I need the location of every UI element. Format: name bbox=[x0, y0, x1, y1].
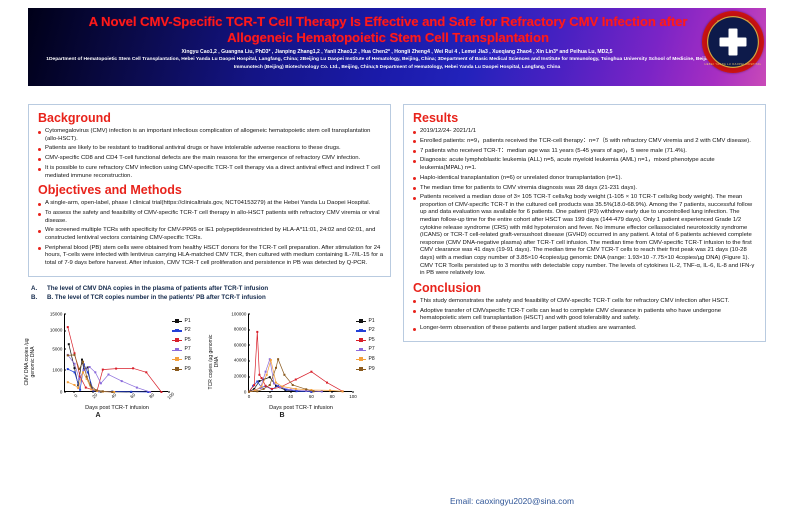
series-marker-P8 bbox=[77, 387, 79, 389]
series-marker-P7 bbox=[290, 388, 292, 390]
legend-label: P5 bbox=[185, 336, 191, 346]
legend-item-P2: P2 bbox=[172, 326, 191, 336]
series-marker-P9 bbox=[275, 366, 277, 368]
chart-legend: P1P2P5P7P8P9 bbox=[356, 317, 375, 375]
series-marker-P5 bbox=[115, 367, 117, 369]
series-marker-P8 bbox=[113, 391, 115, 393]
series-marker-P8 bbox=[74, 384, 76, 386]
y-axis-label: TCR copies /µg genomic DNA bbox=[208, 332, 220, 392]
series-marker-P7 bbox=[78, 378, 80, 380]
y-axis-tick: 40000 bbox=[234, 358, 249, 363]
legend-swatch-icon bbox=[356, 350, 366, 351]
legend-item-P2: P2 bbox=[356, 326, 375, 336]
series-marker-P2 bbox=[79, 388, 81, 390]
chart-panel-label: A bbox=[28, 412, 168, 419]
legend-label: P1 bbox=[369, 317, 375, 327]
legend-label: P2 bbox=[185, 326, 191, 336]
x-axis-tick: 60 bbox=[129, 392, 136, 399]
x-axis-tick: 20 bbox=[92, 392, 99, 399]
results-bullet-list: 2019/12/24- 2021/1/1 Enrolled patients: … bbox=[411, 128, 758, 278]
series-marker-P5 bbox=[271, 388, 273, 390]
section-title-conclusion: Conclusion bbox=[413, 281, 758, 296]
series-marker-P2 bbox=[67, 368, 69, 370]
legend-label: P8 bbox=[185, 355, 191, 365]
poster-header-banner: A Novel CMV-Specific TCR-T Cell Therapy … bbox=[28, 8, 766, 86]
section-title-background: Background bbox=[38, 111, 383, 126]
list-item: It is possible to cure refractory CMV in… bbox=[36, 165, 383, 180]
figure-charts: CMV DNA copies /µg genomic DNA0100050001… bbox=[28, 306, 391, 418]
poster-root: A Novel CMV-Specific TCR-T Cell Therapy … bbox=[0, 8, 794, 518]
y-axis-tick: 5000 bbox=[52, 346, 65, 351]
y-axis-tick: 100000 bbox=[231, 311, 249, 316]
author-list: Xingyu Cao1,2 , Guangna Liu, PhD3* , Jia… bbox=[28, 46, 766, 55]
series-marker-P7 bbox=[136, 386, 138, 388]
panel-results: Results 2019/12/24- 2021/1/1 Enrolled pa… bbox=[403, 104, 766, 342]
series-marker-P7 bbox=[121, 380, 123, 382]
list-item: Patients received a median dose of 3× 10… bbox=[411, 194, 758, 278]
figure-caption-b-letter: B. bbox=[31, 293, 47, 302]
legend-label: P9 bbox=[369, 365, 375, 375]
series-marker-P8 bbox=[270, 359, 272, 361]
list-item: Longer-term observation of these patient… bbox=[411, 325, 758, 333]
series-marker-P1 bbox=[68, 343, 70, 345]
legend-label: P2 bbox=[369, 326, 375, 336]
series-marker-P9 bbox=[78, 368, 80, 370]
section-title-objectives: Objectives and Methods bbox=[38, 183, 383, 198]
series-marker-P8 bbox=[295, 388, 297, 390]
figure-caption-a-letter: A. bbox=[31, 284, 47, 293]
series-marker-P8 bbox=[91, 388, 93, 390]
series-marker-P9 bbox=[256, 390, 258, 392]
figure-caption-a-text: The level of CMV DNA copies in the plasm… bbox=[47, 284, 268, 293]
legend-item-P8: P8 bbox=[356, 355, 375, 365]
x-axis-tick: 0 bbox=[248, 394, 251, 399]
x-axis-tick: 0 bbox=[74, 393, 79, 398]
y-axis-label: CMV DNA copies /µg genomic DNA bbox=[24, 332, 36, 392]
x-axis-tick: 80 bbox=[330, 394, 335, 399]
contact-email: Email: caoxingyu2020@sina.com bbox=[220, 496, 574, 506]
series-marker-P2 bbox=[87, 371, 89, 373]
series-marker-P5 bbox=[258, 373, 260, 375]
legend-item-P9: P9 bbox=[356, 365, 375, 375]
series-marker-P5 bbox=[295, 378, 297, 380]
legend-swatch-icon bbox=[172, 369, 182, 370]
series-marker-P1 bbox=[74, 367, 76, 369]
series-marker-P5 bbox=[265, 384, 267, 386]
series-marker-P7 bbox=[265, 370, 267, 372]
series-marker-P9 bbox=[283, 373, 285, 375]
y-axis-tick: 1000 bbox=[52, 367, 65, 372]
series-marker-P5 bbox=[67, 326, 69, 328]
series-marker-P9 bbox=[277, 358, 279, 360]
legend-item-P1: P1 bbox=[172, 317, 191, 327]
cross-icon-horizontal bbox=[720, 38, 747, 47]
chart-cmv-dna-copies: CMV DNA copies /µg genomic DNA0100050001… bbox=[28, 306, 206, 418]
background-bullet-list: Cytomegalovirus (CMV) infection is an im… bbox=[36, 128, 383, 180]
x-axis-tick: 60 bbox=[309, 394, 314, 399]
series-marker-P5 bbox=[310, 370, 312, 372]
legend-item-P7: P7 bbox=[356, 345, 375, 355]
x-axis-tick: 20 bbox=[267, 394, 272, 399]
series-marker-P2 bbox=[74, 371, 76, 373]
legend-item-P8: P8 bbox=[172, 355, 191, 365]
series-marker-P8 bbox=[275, 381, 277, 383]
series-marker-P9 bbox=[269, 384, 271, 386]
list-item: 2019/12/24- 2021/1/1 bbox=[411, 128, 758, 136]
series-marker-P5 bbox=[253, 384, 255, 386]
series-marker-P7 bbox=[108, 373, 110, 375]
series-marker-P9 bbox=[292, 384, 294, 386]
legend-swatch-icon bbox=[356, 330, 366, 331]
series-marker-P2 bbox=[130, 390, 132, 392]
series-marker-P8 bbox=[67, 381, 69, 383]
series-marker-P1 bbox=[81, 358, 83, 360]
panel-background-objectives: Background Cytomegalovirus (CMV) infecti… bbox=[28, 104, 391, 277]
series-marker-P9 bbox=[313, 390, 315, 392]
list-item: We screened multiple TCRs with specifici… bbox=[36, 227, 383, 242]
list-item: Adoptive transfer of CMVspecific TCR-T c… bbox=[411, 308, 758, 323]
legend-item-P5: P5 bbox=[356, 336, 375, 346]
list-item: Cytomegalovirus (CMV) infection is an im… bbox=[36, 128, 383, 143]
figure-captions: A. The level of CMV DNA copies in the pl… bbox=[28, 284, 391, 302]
series-marker-P8 bbox=[329, 389, 331, 391]
x-axis-tick: 40 bbox=[288, 394, 293, 399]
series-marker-P5 bbox=[256, 331, 258, 333]
list-item: Enrolled patients: n=9，patients received… bbox=[411, 138, 758, 146]
poster-columns: Background Cytomegalovirus (CMV) infecti… bbox=[28, 104, 766, 418]
plot-area: 020000400006000080000100000020406080100 bbox=[248, 314, 352, 392]
x-axis-tick: 80 bbox=[148, 392, 155, 399]
series-marker-P9 bbox=[74, 354, 76, 356]
series-marker-P9 bbox=[305, 388, 307, 390]
x-axis-label: Days post TCR-T infusion bbox=[42, 405, 192, 411]
series-marker-P5 bbox=[145, 371, 147, 373]
series-marker-P5 bbox=[102, 368, 104, 370]
list-item: This study demonstrates the safety and f… bbox=[411, 298, 758, 306]
chart-legend: P1P2P5P7P8P9 bbox=[172, 317, 191, 375]
series-marker-P8 bbox=[261, 385, 263, 387]
list-item: To assess the safety and feasibility of … bbox=[36, 210, 383, 225]
legend-swatch-icon bbox=[356, 369, 366, 370]
series-marker-P5 bbox=[85, 386, 87, 388]
legend-swatch-icon bbox=[172, 359, 182, 360]
series-marker-P9 bbox=[263, 388, 265, 390]
series-marker-P9 bbox=[95, 389, 97, 391]
figure-caption-b: B. B. The level of TCR copies number in … bbox=[31, 293, 391, 302]
logo-bottom-text: HEBEI YANDA LU DAOPEI HOSPITAL bbox=[702, 63, 764, 66]
series-marker-P9 bbox=[248, 390, 250, 392]
legend-swatch-icon bbox=[172, 330, 182, 331]
y-axis-tick: 10000 bbox=[50, 328, 65, 333]
list-item: CMV-specific CD8 and CD4 T-cell function… bbox=[36, 155, 383, 163]
left-column: Background Cytomegalovirus (CMV) infecti… bbox=[28, 104, 391, 418]
series-layer bbox=[65, 314, 169, 392]
legend-swatch-icon bbox=[172, 350, 182, 351]
series-marker-P8 bbox=[342, 390, 344, 392]
series-marker-P5 bbox=[160, 391, 162, 393]
legend-label: P7 bbox=[369, 345, 375, 355]
series-marker-P5 bbox=[132, 367, 134, 369]
series-marker-P7 bbox=[279, 386, 281, 388]
legend-label: P5 bbox=[369, 336, 375, 346]
series-marker-P5 bbox=[261, 377, 263, 379]
objectives-bullet-list: A single-arm, open-label, phase I clinic… bbox=[36, 200, 383, 267]
legend-label: P1 bbox=[185, 317, 191, 327]
list-item: Patients are likely to be resistant to t… bbox=[36, 145, 383, 153]
hospital-logo-icon: 河北燕达陆道培医院 HEBEI YANDA LU DAOPEI HOSPITAL bbox=[702, 11, 764, 73]
legend-item-P7: P7 bbox=[172, 345, 191, 355]
series-marker-P8 bbox=[266, 373, 268, 375]
conclusion-bullet-list: This study demonstrates the safety and f… bbox=[411, 298, 758, 333]
series-layer bbox=[249, 314, 353, 392]
list-item: 7 patients who received TCR-T：median age… bbox=[411, 148, 758, 156]
series-marker-P9 bbox=[82, 360, 84, 362]
plot-area: 0100050001000015000020406080100 bbox=[64, 314, 168, 392]
legend-label: P7 bbox=[185, 345, 191, 355]
legend-label: P9 bbox=[185, 365, 191, 375]
legend-item-P5: P5 bbox=[172, 336, 191, 346]
series-marker-P7 bbox=[100, 382, 102, 384]
contact-email-footer: Email: caoxingyu2020@sina.com bbox=[0, 496, 794, 506]
legend-item-P1: P1 bbox=[356, 317, 375, 327]
figure-caption-a: A. The level of CMV DNA copies in the pl… bbox=[31, 284, 391, 293]
series-marker-P1 bbox=[258, 380, 260, 382]
x-axis-tick: 100 bbox=[349, 394, 357, 399]
legend-swatch-icon bbox=[172, 321, 182, 322]
legend-swatch-icon bbox=[356, 321, 366, 322]
series-marker-P7 bbox=[149, 391, 151, 393]
chart-panel-label: B bbox=[212, 412, 352, 419]
series-marker-P1 bbox=[269, 376, 271, 378]
series-marker-P7 bbox=[74, 362, 76, 364]
x-axis-label: Days post TCR-T infusion bbox=[226, 405, 376, 411]
legend-label: P8 bbox=[369, 355, 375, 365]
series-marker-P9 bbox=[90, 384, 92, 386]
legend-item-P9: P9 bbox=[172, 365, 191, 375]
list-item: The median time for patients to CMV vire… bbox=[411, 185, 758, 193]
y-axis-tick: 15000 bbox=[50, 311, 65, 316]
series-marker-P2 bbox=[256, 380, 258, 382]
list-item: Peripheral blood (PB) stem cells were ob… bbox=[36, 245, 383, 268]
series-marker-P7 bbox=[94, 371, 96, 373]
affiliation-list: 1Department of Hematopoietic Stem Cell T… bbox=[28, 55, 766, 70]
list-item: Diagnosis: acute lymphoblastic leukemia … bbox=[411, 157, 758, 172]
series-marker-P9 bbox=[67, 354, 69, 356]
y-axis-tick: 60000 bbox=[234, 342, 249, 347]
series-marker-P9 bbox=[111, 391, 113, 393]
page-title: A Novel CMV-Specific TCR-T Cell Therapy … bbox=[28, 8, 766, 46]
figure-caption-b-text: B. The level of TCR copies number in the… bbox=[47, 293, 266, 302]
series-marker-P9 bbox=[102, 390, 104, 392]
section-title-results: Results bbox=[413, 111, 758, 126]
chart-tcr-copies: TCR copies /µg genomic DNA02000040000600… bbox=[212, 306, 390, 418]
series-marker-P9 bbox=[86, 375, 88, 377]
legend-swatch-icon bbox=[356, 359, 366, 360]
series-marker-P5 bbox=[326, 381, 328, 383]
list-item: Haplo-identical transplantation (n=6) or… bbox=[411, 175, 758, 183]
series-marker-P7 bbox=[89, 366, 91, 368]
series-marker-P7 bbox=[321, 390, 323, 392]
y-axis-tick: 20000 bbox=[234, 374, 249, 379]
y-axis-tick: 80000 bbox=[234, 327, 249, 332]
series-marker-P8 bbox=[281, 385, 283, 387]
list-item: A single-arm, open-label, phase I clinic… bbox=[36, 200, 383, 208]
legend-swatch-icon bbox=[172, 340, 182, 341]
series-marker-P8 bbox=[82, 371, 84, 373]
legend-swatch-icon bbox=[356, 340, 366, 341]
series-marker-P7 bbox=[273, 382, 275, 384]
right-column: Results 2019/12/24- 2021/1/1 Enrolled pa… bbox=[403, 104, 766, 418]
x-axis-tick: 40 bbox=[110, 392, 117, 399]
